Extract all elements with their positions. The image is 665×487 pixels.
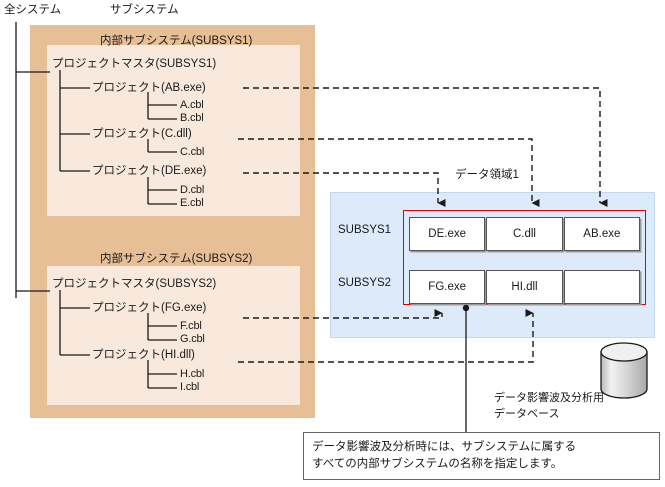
data-cell-subsys2-2[interactable] [564, 270, 640, 304]
file-label-f-cbl: F.cbl [180, 320, 202, 332]
data-cell-subsys1-0[interactable]: DE.exe [409, 217, 485, 251]
file-label-c-cbl: C.cbl [180, 146, 204, 158]
data-row-label-subsys2: SUBSYS2 [338, 277, 391, 289]
file-label-d-cbl: D.cbl [180, 184, 204, 196]
file-label-h-cbl: H.cbl [180, 368, 204, 380]
internal-subsystem-2-title: 内部サブシステム(SUBSYS2) [100, 250, 252, 266]
note-box: データ影響波及分析時には、サブシステムに属する すべての内部サブシステムの名称を… [303, 432, 660, 480]
data-area-title: データ領域1 [455, 168, 519, 182]
project-label-c-dll: プロジェクト(C.dll) [92, 127, 192, 141]
data-row-label-subsys1: SUBSYS1 [338, 224, 391, 236]
data-cell-subsys1-2[interactable]: AB.exe [564, 217, 640, 251]
internal-subsystem-1-title: 内部サブシステム(SUBSYS1) [100, 32, 252, 48]
project-label-fg-exe: プロジェクト(FG.exe) [92, 301, 206, 315]
database-cylinder-icon [601, 343, 647, 398]
file-label-e-cbl: E.cbl [180, 197, 203, 209]
file-label-b-cbl: B.cbl [180, 112, 203, 124]
file-label-a-cbl: A.cbl [180, 99, 203, 111]
database-caption-line1: データ影響波及分析用 [494, 392, 604, 405]
file-label-i-cbl: I.cbl [180, 381, 199, 393]
file-label-g-cbl: G.cbl [180, 333, 205, 345]
data-row-subsys2: FG.exe HI.dll [409, 270, 640, 304]
note-line-2: すべての内部サブシステムの名称を指定します。 [312, 456, 651, 473]
project-label-hi-dll: プロジェクト(HI.dll) [92, 348, 195, 362]
data-cell-subsys2-0[interactable]: FG.exe [409, 270, 485, 304]
data-cell-subsys1-1[interactable]: C.dll [486, 217, 562, 251]
project-label-ab-exe: プロジェクト(AB.exe) [92, 81, 206, 95]
project-label-de-exe: プロジェクト(DE.exe) [92, 164, 206, 178]
database-caption-line2: データベース [494, 408, 559, 421]
project-master-1-label: プロジェクトマスタ(SUBSYS1) [52, 57, 216, 71]
label-all-system: 全システム [4, 3, 61, 17]
data-cell-subsys2-1[interactable]: HI.dll [486, 270, 562, 304]
data-row-subsys1: DE.exe C.dll AB.exe [409, 217, 640, 251]
note-line-1: データ影響波及分析時には、サブシステムに属する [312, 439, 651, 456]
label-subsystem: サブシステム [110, 3, 179, 17]
project-master-2-label: プロジェクトマスタ(SUBSYS2) [52, 277, 216, 291]
